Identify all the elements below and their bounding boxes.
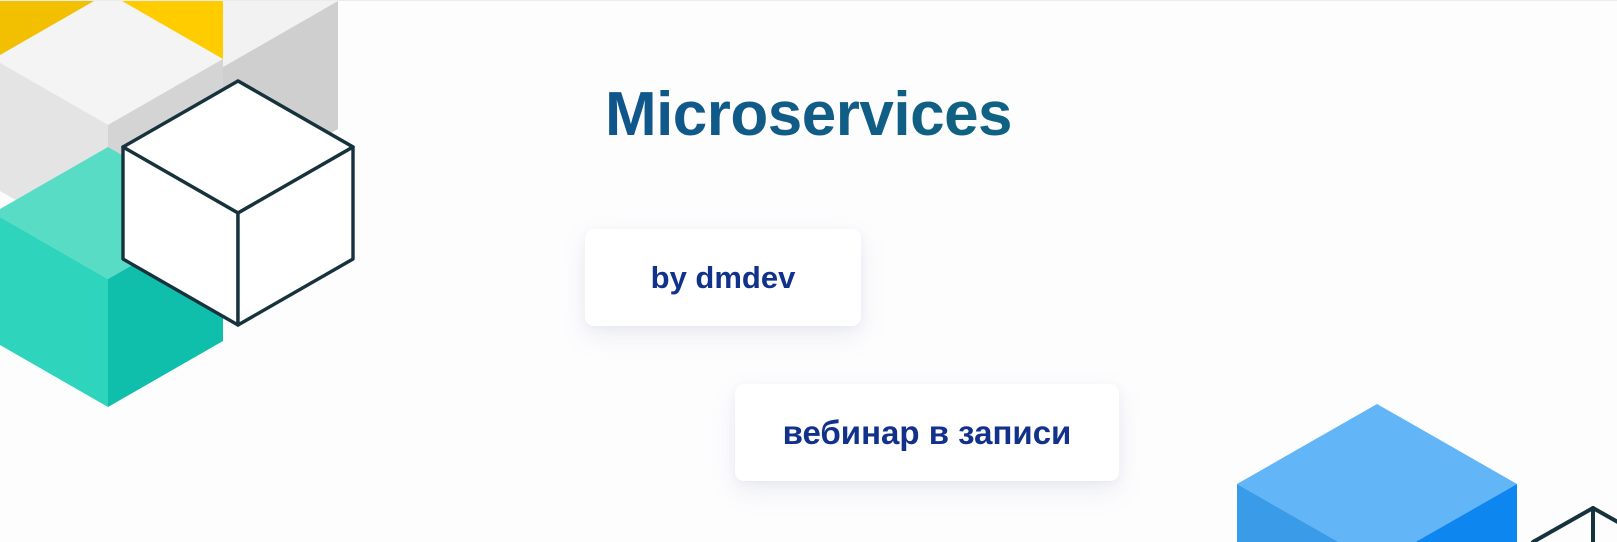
blue-cube xyxy=(1237,404,1517,542)
isometric-blue-cube xyxy=(1197,382,1617,542)
author-card[interactable]: by dmdev xyxy=(585,229,861,326)
webinar-banner: Microservices by dmdev вебинар в записи xyxy=(0,0,1617,542)
ghost-cube-far-left xyxy=(1197,532,1227,542)
ghost-cube-left xyxy=(1257,528,1377,542)
teal-cube xyxy=(0,147,223,407)
format-card-label: вебинар в записи xyxy=(783,414,1072,452)
page-title: Microservices xyxy=(0,81,1617,149)
format-card[interactable]: вебинар в записи xyxy=(735,384,1119,481)
outline-cube-right xyxy=(1533,508,1617,542)
author-card-label: by dmdev xyxy=(651,260,796,296)
isometric-cube-stack xyxy=(0,0,358,425)
